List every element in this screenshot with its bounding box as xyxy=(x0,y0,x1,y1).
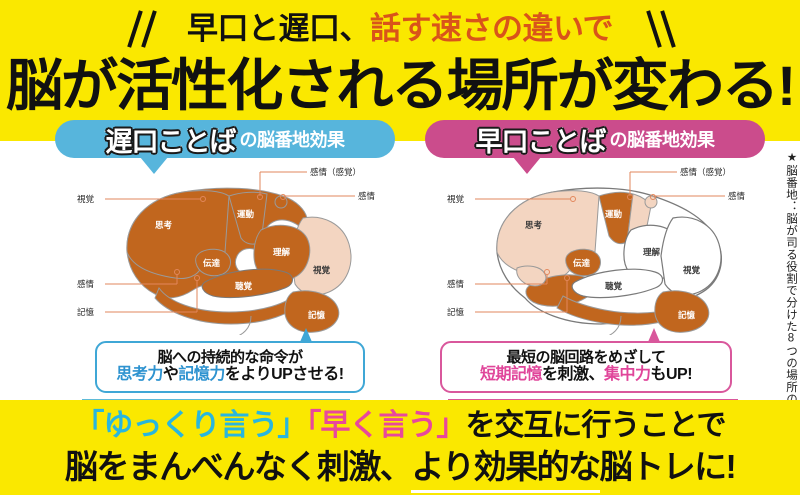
infographic-page: 早口と遅口、話す速さの違いで 脳が活性化される場所が変わる! 遅口ことば の脳番… xyxy=(0,0,800,495)
footer-slow-phrase: 「ゆっくり言う」 xyxy=(74,409,306,442)
footer-line2: 脳をまんべんなく刺激、より効果的な脳トレに! xyxy=(0,444,800,490)
region-label-thinking: 思考 xyxy=(155,220,173,230)
callout-left-line1: 脳への持続的な命令が xyxy=(157,350,302,367)
callout-left-hl2: 記憶力 xyxy=(178,366,225,383)
region-label-visual: 視覚 xyxy=(312,265,331,275)
outer-label-emotion-low: 感情 xyxy=(77,279,95,289)
region-label-auditory: 聴覚 xyxy=(605,281,623,291)
panel-banner-right: 早口ことば の脳番地効果 xyxy=(425,120,765,158)
region-label-thinking: 思考 xyxy=(525,220,543,230)
region-label-memory: 記憶 xyxy=(308,310,326,320)
outer-label-emotion-sense: 感情（感覚） xyxy=(310,167,361,177)
outer-label-emotion-top: 感情 xyxy=(358,191,376,201)
banner-title-right: 早口ことば xyxy=(476,120,606,159)
callout-right-conj: を刺激、 xyxy=(542,366,604,383)
footer-line1-tail: を交互に行うことで xyxy=(465,409,725,442)
region-label-understanding: 理解 xyxy=(643,247,661,257)
outer-label-memory: 記憶 xyxy=(77,307,95,317)
header-title: 脳が活性化される場所が変わる! xyxy=(0,50,800,122)
banner-subtitle-left: の脳番地効果 xyxy=(240,126,345,152)
region-label-motor: 運動 xyxy=(605,209,623,219)
region-label-understanding: 理解 xyxy=(273,247,291,257)
footer-line1: 「ゆっくり言う」「早く言う」を交互に行うことで xyxy=(0,406,800,446)
footer-band: 「ゆっくり言う」「早く言う」を交互に行うことで 脳をまんべんなく刺激、より効果的… xyxy=(0,400,800,495)
callout-right-tail: もUP! xyxy=(650,366,692,383)
banner-title-left: 遅口ことば xyxy=(106,120,236,159)
callout-left-line2: 思考力や記憶力をよりUPさせる! xyxy=(116,366,343,384)
callout-left-hl1: 思考力 xyxy=(116,366,163,383)
callout-left: 脳への持続的な命令が 思考力や記憶力をよりUPさせる! xyxy=(95,341,365,393)
outer-label-emotion-sense: 感情（感覚） xyxy=(680,167,731,177)
outer-label-emotion-low: 感情 xyxy=(447,279,465,289)
banner-subtitle-right: の脳番地効果 xyxy=(610,126,715,152)
region-label-transmission: 伝達 xyxy=(203,258,221,268)
header-subtitle-accent: 話す速さの違いで xyxy=(370,11,613,46)
footer-line2-c: 脳トレに! xyxy=(600,448,736,485)
panel-banner-left: 遅口ことば の脳番地効果 xyxy=(55,120,395,158)
footer-line2-a: 脳をまんべんなく刺激、 xyxy=(65,448,412,485)
callout-right-hl1: 短期記憶 xyxy=(480,366,542,383)
callout-pointer-left xyxy=(300,328,312,342)
brain-diagram-right: 思考 運動 伝達 理解 聴覚 視覚 記憶 視覚 感情（感覚） 感情 感情 記憶 xyxy=(425,160,770,335)
region-label-memory: 記憶 xyxy=(678,310,696,320)
outer-label-visual: 視覚 xyxy=(77,194,95,204)
region-label-motor: 運動 xyxy=(237,209,255,219)
callout-right-line2: 短期記憶を刺激、集中力もUP! xyxy=(480,366,692,384)
callout-pointer-right xyxy=(648,328,660,342)
region-label-auditory: 聴覚 xyxy=(235,281,253,291)
footer-line2-b: より効果的な xyxy=(411,444,599,493)
callout-right-line1: 最短の脳回路をめざして xyxy=(506,350,665,367)
callout-right: 最短の脳回路をめざして 短期記憶を刺激、集中力もUP! xyxy=(440,341,732,393)
outer-label-memory: 記憶 xyxy=(447,307,465,317)
brain-diagram-left: 思考 運動 伝達 理解 聴覚 視覚 記憶 視覚 感情（感覚） 感情 感情 記憶 xyxy=(55,160,400,335)
footer-fast-phrase: 「早く言う」 xyxy=(306,409,465,442)
outer-label-emotion-top: 感情 xyxy=(728,191,746,201)
header-subtitle-pre: 早口と遅口、 xyxy=(187,11,370,46)
callout-left-tail: をよりUPさせる! xyxy=(225,366,344,383)
callout-left-conj: や xyxy=(163,366,179,383)
callout-right-hl2: 集中力 xyxy=(604,366,651,383)
header-subtitle: 早口と遅口、話す速さの違いで xyxy=(0,8,800,50)
region-label-transmission: 伝達 xyxy=(573,258,591,268)
outer-label-visual: 視覚 xyxy=(447,194,465,204)
region-label-visual: 視覚 xyxy=(682,265,701,275)
